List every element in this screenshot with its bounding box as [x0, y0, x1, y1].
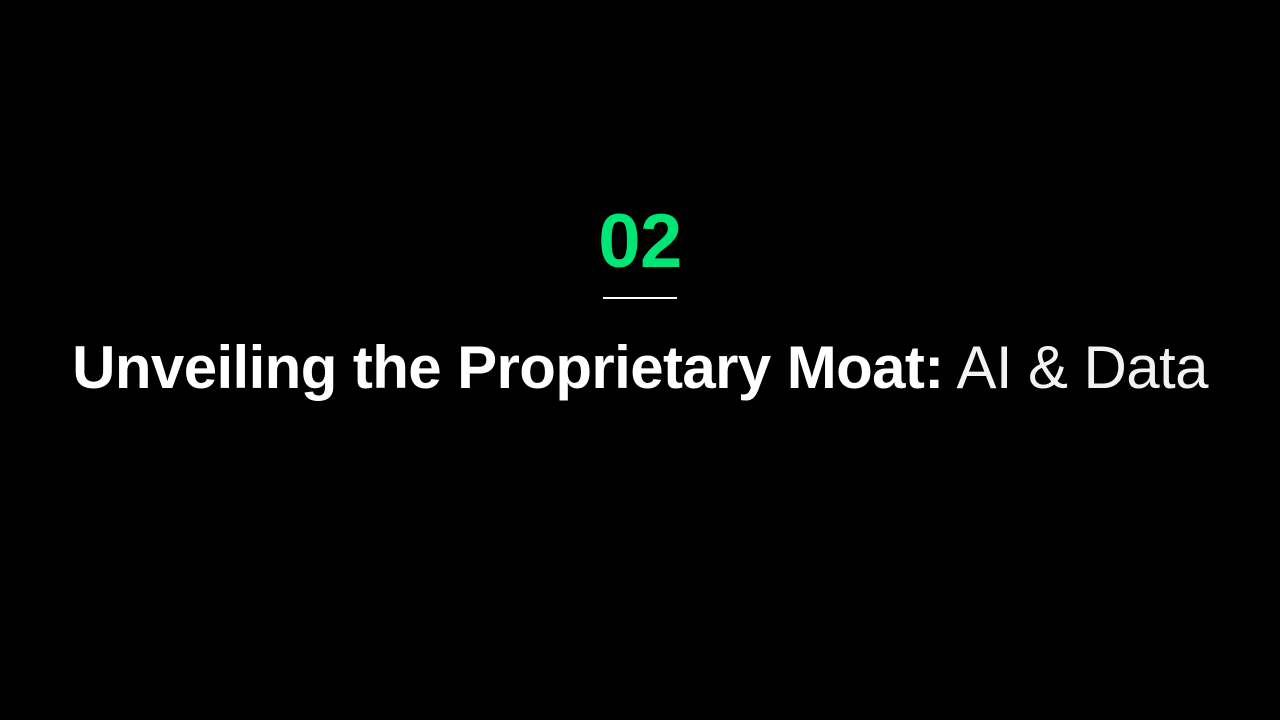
title-block: Unveiling the Proprietary Moat: AI & Dat…	[0, 334, 1280, 401]
slide-title-light: AI & Data	[956, 334, 1207, 401]
slide-title-separator	[944, 334, 957, 401]
slide-title-strong: Unveiling the Proprietary Moat:	[72, 334, 944, 401]
slide-title: Unveiling the Proprietary Moat: AI & Dat…	[60, 334, 1220, 401]
section-marker: 02	[0, 204, 1280, 299]
section-divider-rule	[603, 297, 677, 299]
section-divider-slide: 02 Unveiling the Proprietary Moat: AI & …	[0, 0, 1280, 720]
section-number: 02	[598, 204, 682, 280]
